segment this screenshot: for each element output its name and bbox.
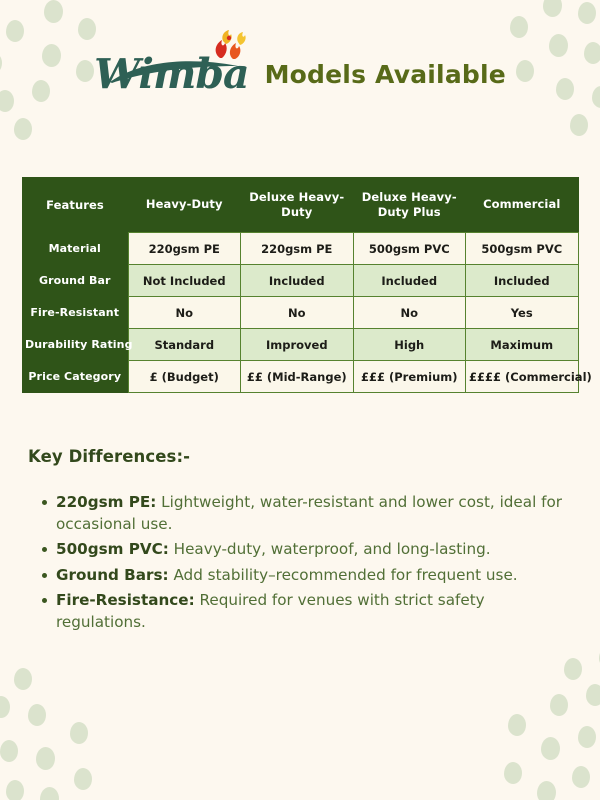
row-header-price-category: Price Category [22,361,128,393]
table-cell: Included [466,265,579,297]
row-header-material: Material [22,233,128,265]
table-row: Material 220gsm PE 220gsm PE 500gsm PVC … [22,233,578,265]
table-row: Durability Rating Standard Improved High… [22,329,578,361]
key-differences-list: 220gsm PE: Lightweight, water-resistant … [28,492,573,633]
decorative-dots-bottom-left [0,666,139,800]
table-cell: ££££ (Commercial) [466,361,579,393]
table-row: Price Category £ (Budget) ££ (Mid-Range)… [22,361,578,393]
table-cell: 220gsm PE [128,233,241,265]
list-item-term: Ground Bars: [56,566,169,584]
list-item: Ground Bars: Add stability–recommended f… [28,565,573,587]
list-item-term: 500gsm PVC: [56,540,169,558]
table-cell: £££ (Premium) [353,361,466,393]
list-item-description: Add stability–recommended for frequent u… [173,566,517,584]
table-row: Ground Bar Not Included Included Include… [22,265,578,297]
list-item-description: Heavy-duty, waterproof, and long-lasting… [174,540,491,558]
decorative-dots-bottom-right [464,670,600,800]
table-cell: Improved [241,329,354,361]
column-header-commercial: Commercial [466,177,579,233]
table-cell: Included [241,265,354,297]
page-title: Models Available [265,60,506,89]
list-item-term: Fire-Resistance: [56,591,195,609]
bullet-icon [42,547,47,552]
table-cell: Maximum [466,329,579,361]
column-header-deluxe-heavy-duty-plus: Deluxe Heavy-Duty Plus [353,177,466,233]
column-header-heavy-duty: Heavy-Duty [128,177,241,233]
table-cell: 500gsm PVC [353,233,466,265]
models-comparison-table-wrapper: Features Heavy-Duty Deluxe Heavy-Duty De… [22,177,578,393]
table-header-row: Features Heavy-Duty Deluxe Heavy-Duty De… [22,177,578,233]
table-cell: No [353,297,466,329]
table-cell: 220gsm PE [241,233,354,265]
list-item: 500gsm PVC: Heavy-duty, waterproof, and … [28,539,573,561]
table-cell: High [353,329,466,361]
wimba-logo: Wimba [94,54,249,95]
bullet-icon [42,598,47,603]
page-header: Wimba Models Available [0,34,600,114]
table-row: Fire-Resistant No No No Yes [22,297,578,329]
table-cell: £ (Budget) [128,361,241,393]
column-header-deluxe-heavy-duty: Deluxe Heavy-Duty [241,177,354,233]
column-header-features: Features [22,177,128,233]
table-body: Material 220gsm PE 220gsm PE 500gsm PVC … [22,233,578,393]
table-cell: No [128,297,241,329]
table-header: Features Heavy-Duty Deluxe Heavy-Duty De… [22,177,578,233]
bullet-icon [42,573,47,578]
bullet-icon [42,500,47,505]
table-cell: 500gsm PVC [466,233,579,265]
row-header-durability-rating: Durability Rating [22,329,128,361]
table-cell: Yes [466,297,579,329]
row-header-ground-bar: Ground Bar [22,265,128,297]
list-item-term: 220gsm PE: [56,493,156,511]
table-cell: ££ (Mid-Range) [241,361,354,393]
table-cell: Standard [128,329,241,361]
table-cell: No [241,297,354,329]
models-comparison-table: Features Heavy-Duty Deluxe Heavy-Duty De… [22,177,579,393]
table-cell: Not Included [128,265,241,297]
table-cell: Included [353,265,466,297]
list-item: Fire-Resistance: Required for venues wit… [28,590,573,633]
logo-wordmark: Wimba [94,54,249,95]
row-header-fire-resistant: Fire-Resistant [22,297,128,329]
list-item: 220gsm PE: Lightweight, water-resistant … [28,492,573,535]
poster-page: Wimba Models Available Features Heavy- [0,0,600,800]
key-differences-section: Key Differences:- 220gsm PE: Lightweight… [28,447,573,637]
key-differences-heading: Key Differences:- [28,447,573,466]
